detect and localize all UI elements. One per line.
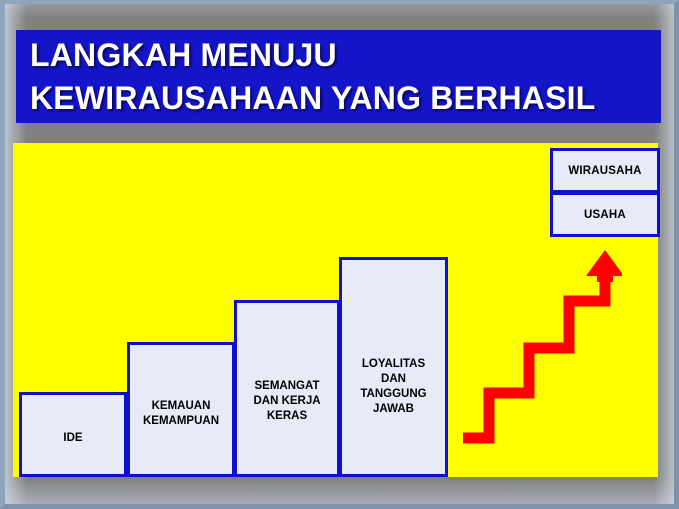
step-box-loyalitas-dan-tanggung-jawab[interactable]: LOYALITAS DAN TANGGUNG JAWAB: [339, 257, 448, 477]
arrowhead-icon: [586, 250, 622, 282]
page-title-line-1: LANGKAH MENUJU: [30, 34, 661, 77]
goal-label: WIRAUSAHA: [568, 165, 641, 177]
staircase-arrow-icon: [457, 248, 622, 448]
step-label: IDE: [59, 431, 86, 446]
title-banner: LANGKAH MENUJU KEWIRAUSAHAAN YANG BERHAS…: [16, 30, 661, 123]
step-label: KEMAUAN KEMAMPUAN: [139, 399, 223, 429]
step-box-ide[interactable]: IDE: [19, 392, 127, 477]
step-label: SEMANGAT DAN KERJA KERAS: [249, 379, 324, 424]
staircase-arrow-path: [463, 264, 605, 438]
goal-label: USAHA: [584, 209, 626, 221]
slide-canvas: LANGKAH MENUJU KEWIRAUSAHAAN YANG BERHAS…: [0, 0, 679, 509]
step-box-semangat-dan-kerja-keras[interactable]: SEMANGAT DAN KERJA KERAS: [234, 300, 340, 477]
page-title-line-2: KEWIRAUSAHAAN YANG BERHASIL: [30, 77, 661, 120]
goal-stack: WIRAUSAHA USAHA: [550, 148, 660, 238]
step-label: LOYALITAS DAN TANGGUNG JAWAB: [356, 357, 430, 417]
goal-box-wirausaha[interactable]: WIRAUSAHA: [550, 148, 660, 193]
step-box-kemauan-kemampuan[interactable]: KEMAUAN KEMAMPUAN: [127, 342, 235, 477]
goal-box-usaha[interactable]: USAHA: [550, 192, 660, 237]
